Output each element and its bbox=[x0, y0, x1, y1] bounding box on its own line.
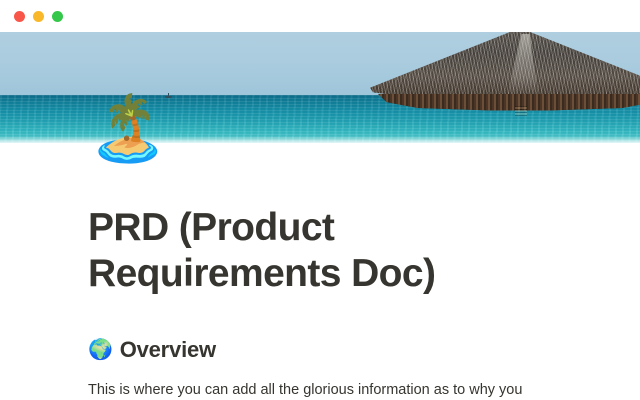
page-content: PRD (Product Requirements Doc) 🌍 Overvie… bbox=[0, 143, 640, 400]
document-window: 🏝️ PRD (Product Requirements Doc) 🌍 Over… bbox=[0, 0, 640, 400]
section-heading-overview[interactable]: 🌍 Overview bbox=[88, 336, 552, 365]
globe-icon: 🌍 bbox=[88, 340, 113, 360]
overview-paragraph[interactable]: This is where you can add all the glorio… bbox=[88, 379, 552, 400]
umbrella-pole-band bbox=[515, 106, 527, 116]
page-icon-emoji[interactable]: 🏝️ bbox=[88, 96, 168, 160]
window-title-bar bbox=[0, 0, 640, 32]
section-heading-label: Overview bbox=[120, 336, 216, 365]
maximize-window-button[interactable] bbox=[52, 11, 63, 22]
umbrella-fringe bbox=[378, 94, 640, 112]
minimize-window-button[interactable] bbox=[33, 11, 44, 22]
palapa-umbrella-icon bbox=[370, 32, 640, 143]
close-window-button[interactable] bbox=[14, 11, 25, 22]
page-title[interactable]: PRD (Product Requirements Doc) bbox=[88, 205, 552, 297]
traffic-light-controls bbox=[14, 11, 63, 22]
